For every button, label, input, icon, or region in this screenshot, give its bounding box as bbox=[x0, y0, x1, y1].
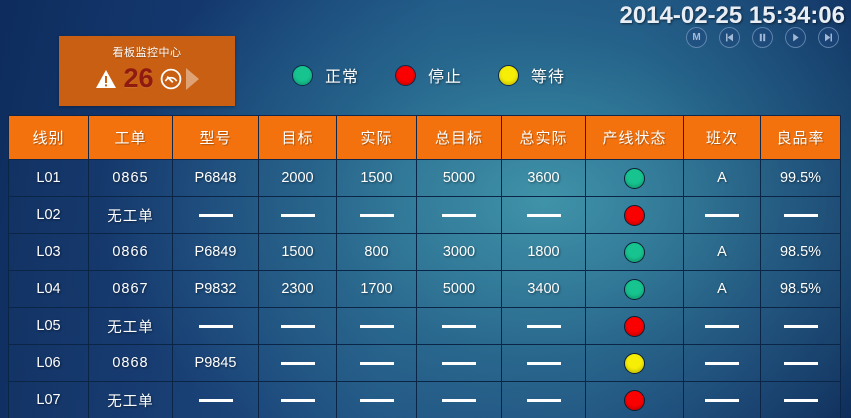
cell-target: 1500 bbox=[259, 234, 337, 271]
legend-status-dot bbox=[498, 65, 519, 86]
empty-dash bbox=[705, 399, 739, 402]
cell-total-target: 3000 bbox=[417, 234, 502, 271]
cell-actual: 800 bbox=[337, 234, 417, 271]
cell-work-order: 无工单 bbox=[89, 197, 173, 234]
cell-shift-empty bbox=[684, 197, 761, 234]
legend-item: 等待 bbox=[498, 63, 565, 87]
cell-target: 2300 bbox=[259, 271, 337, 308]
cell-line: L04 bbox=[9, 271, 89, 308]
legend-status-dot bbox=[395, 65, 416, 86]
previous-button[interactable] bbox=[719, 27, 740, 48]
table-row[interactable]: L07无工单 bbox=[9, 382, 841, 418]
table-row[interactable]: L040867P98322300170050003400A98.5% bbox=[9, 271, 841, 308]
empty-dash bbox=[784, 214, 818, 217]
table-column-header[interactable]: 目标 bbox=[259, 116, 337, 160]
cell-target-empty bbox=[259, 197, 337, 234]
production-line-table: 线别工单型号目标实际总目标总实际产线状态班次良品率 L010865P684820… bbox=[8, 115, 841, 418]
step-backward-icon bbox=[725, 33, 734, 42]
cell-total-target-empty bbox=[417, 308, 502, 345]
empty-dash bbox=[442, 325, 476, 328]
empty-dash bbox=[360, 362, 394, 365]
cell-line: L07 bbox=[9, 382, 89, 418]
cell-total-actual: 3400 bbox=[502, 271, 586, 308]
status-legend: 正常停止等待 bbox=[292, 63, 565, 87]
status-badge bbox=[586, 197, 684, 234]
status-badge bbox=[586, 160, 684, 197]
empty-dash bbox=[281, 362, 315, 365]
cell-total-target-empty bbox=[417, 197, 502, 234]
mode-button[interactable]: M bbox=[686, 27, 707, 48]
empty-dash bbox=[784, 362, 818, 365]
cell-line: L06 bbox=[9, 345, 89, 382]
cell-total-actual-empty bbox=[502, 345, 586, 382]
cell-work-order: 无工单 bbox=[89, 308, 173, 345]
table-row[interactable]: L05无工单 bbox=[9, 308, 841, 345]
cell-yield-rate-empty bbox=[761, 382, 841, 418]
step-forward-icon bbox=[824, 33, 833, 42]
cell-shift-empty bbox=[684, 308, 761, 345]
cell-actual-empty bbox=[337, 197, 417, 234]
cell-line: L02 bbox=[9, 197, 89, 234]
cell-model: P9832 bbox=[173, 271, 259, 308]
cell-model: P6848 bbox=[173, 160, 259, 197]
kanban-alarm-count: 26 bbox=[123, 65, 153, 92]
empty-dash bbox=[360, 325, 394, 328]
empty-dash bbox=[442, 399, 476, 402]
cell-shift: A bbox=[684, 160, 761, 197]
gauge-icon[interactable] bbox=[160, 68, 182, 90]
table-row[interactable]: L010865P68482000150050003600A99.5% bbox=[9, 160, 841, 197]
empty-dash bbox=[784, 399, 818, 402]
cell-actual-empty bbox=[337, 308, 417, 345]
cell-actual-empty bbox=[337, 382, 417, 418]
legend-label: 停止 bbox=[428, 63, 462, 87]
table-column-header[interactable]: 工单 bbox=[89, 116, 173, 160]
empty-dash bbox=[705, 362, 739, 365]
legend-item: 停止 bbox=[395, 63, 462, 87]
cell-line: L01 bbox=[9, 160, 89, 197]
table-column-header[interactable]: 线别 bbox=[9, 116, 89, 160]
warning-triangle-icon bbox=[95, 69, 117, 89]
arrow-right-icon[interactable] bbox=[186, 68, 199, 90]
table-header-row: 线别工单型号目标实际总目标总实际产线状态班次良品率 bbox=[9, 116, 841, 160]
cell-work-order: 0868 bbox=[89, 345, 173, 382]
cell-yield-rate: 99.5% bbox=[761, 160, 841, 197]
cell-total-actual: 3600 bbox=[502, 160, 586, 197]
cell-shift-empty bbox=[684, 345, 761, 382]
cell-yield-rate: 98.5% bbox=[761, 271, 841, 308]
cell-shift: A bbox=[684, 271, 761, 308]
legend-item: 正常 bbox=[292, 63, 359, 87]
status-badge bbox=[586, 382, 684, 418]
table-column-header[interactable]: 型号 bbox=[173, 116, 259, 160]
cell-actual-empty bbox=[337, 345, 417, 382]
empty-dash bbox=[199, 325, 233, 328]
table-column-header[interactable]: 良品率 bbox=[761, 116, 841, 160]
kanban-banner[interactable]: 看板监控中心 26 bbox=[59, 36, 235, 106]
cell-actual: 1700 bbox=[337, 271, 417, 308]
cell-total-target: 5000 bbox=[417, 271, 502, 308]
cell-total-target: 5000 bbox=[417, 160, 502, 197]
status-badge bbox=[586, 271, 684, 308]
cell-total-actual: 1800 bbox=[502, 234, 586, 271]
empty-dash bbox=[705, 325, 739, 328]
empty-dash bbox=[360, 214, 394, 217]
cell-work-order: 0865 bbox=[89, 160, 173, 197]
cell-total-actual-empty bbox=[502, 197, 586, 234]
cell-actual: 1500 bbox=[337, 160, 417, 197]
empty-dash bbox=[281, 399, 315, 402]
empty-dash bbox=[442, 214, 476, 217]
empty-dash bbox=[527, 214, 561, 217]
status-dot bbox=[624, 316, 645, 337]
cell-work-order: 0866 bbox=[89, 234, 173, 271]
cell-line: L03 bbox=[9, 234, 89, 271]
status-dot bbox=[624, 242, 645, 263]
status-dot bbox=[624, 279, 645, 300]
empty-dash bbox=[442, 362, 476, 365]
table-row[interactable]: L030866P6849150080030001800A98.5% bbox=[9, 234, 841, 271]
cell-work-order: 0867 bbox=[89, 271, 173, 308]
play-button[interactable] bbox=[785, 27, 806, 48]
table-column-header[interactable]: 总实际 bbox=[502, 116, 586, 160]
cell-target-empty bbox=[259, 382, 337, 418]
empty-dash bbox=[527, 325, 561, 328]
pause-button[interactable] bbox=[752, 27, 773, 48]
table-column-header[interactable]: 总目标 bbox=[417, 116, 502, 160]
cell-yield-rate-empty bbox=[761, 345, 841, 382]
status-badge bbox=[586, 345, 684, 382]
cell-model-empty bbox=[173, 308, 259, 345]
status-badge bbox=[586, 308, 684, 345]
legend-status-dot bbox=[292, 65, 313, 86]
empty-dash bbox=[784, 325, 818, 328]
cell-total-target-empty bbox=[417, 345, 502, 382]
status-badge bbox=[586, 234, 684, 271]
cell-total-target-empty bbox=[417, 382, 502, 418]
empty-dash bbox=[199, 214, 233, 217]
table-row[interactable]: L02无工单 bbox=[9, 197, 841, 234]
cell-shift-empty bbox=[684, 382, 761, 418]
cell-target-empty bbox=[259, 308, 337, 345]
empty-dash bbox=[705, 214, 739, 217]
cell-model-empty bbox=[173, 197, 259, 234]
table-body: L010865P68482000150050003600A99.5%L02无工单… bbox=[9, 160, 841, 418]
cell-model: P6849 bbox=[173, 234, 259, 271]
play-icon bbox=[791, 33, 800, 42]
status-dot bbox=[624, 205, 645, 226]
empty-dash bbox=[199, 399, 233, 402]
status-dot bbox=[624, 390, 645, 411]
kanban-monitor-screen: 2014-02-25 15:34:06 M 看板监控中心 26 bbox=[0, 0, 851, 418]
legend-label: 等待 bbox=[531, 63, 565, 87]
cell-model-empty bbox=[173, 382, 259, 418]
empty-dash bbox=[527, 399, 561, 402]
status-dot bbox=[624, 168, 645, 189]
cell-line: L05 bbox=[9, 308, 89, 345]
empty-dash bbox=[527, 362, 561, 365]
cell-shift: A bbox=[684, 234, 761, 271]
cell-yield-rate-empty bbox=[761, 197, 841, 234]
next-button[interactable] bbox=[818, 27, 839, 48]
table-column-header[interactable]: 实际 bbox=[337, 116, 417, 160]
cell-total-actual-empty bbox=[502, 308, 586, 345]
cell-target: 2000 bbox=[259, 160, 337, 197]
timestamp: 2014-02-25 15:34:06 bbox=[619, 2, 845, 30]
empty-dash bbox=[281, 325, 315, 328]
kanban-banner-title: 看板监控中心 bbox=[59, 36, 235, 60]
empty-dash bbox=[281, 214, 315, 217]
cell-work-order: 无工单 bbox=[89, 382, 173, 418]
cell-yield-rate-empty bbox=[761, 308, 841, 345]
cell-yield-rate: 98.5% bbox=[761, 234, 841, 271]
table-column-header[interactable]: 产线状态 bbox=[586, 116, 684, 160]
media-controls: M bbox=[619, 27, 845, 48]
kanban-banner-body: 26 bbox=[59, 65, 235, 92]
cell-model: P9845 bbox=[173, 345, 259, 382]
pause-icon bbox=[758, 33, 767, 42]
table-column-header[interactable]: 班次 bbox=[684, 116, 761, 160]
clock-area: 2014-02-25 15:34:06 M bbox=[619, 2, 845, 48]
cell-target-empty bbox=[259, 345, 337, 382]
status-dot bbox=[624, 353, 645, 374]
table-row[interactable]: L060868P9845 bbox=[9, 345, 841, 382]
cell-total-actual-empty bbox=[502, 382, 586, 418]
legend-label: 正常 bbox=[325, 63, 359, 87]
empty-dash bbox=[360, 399, 394, 402]
